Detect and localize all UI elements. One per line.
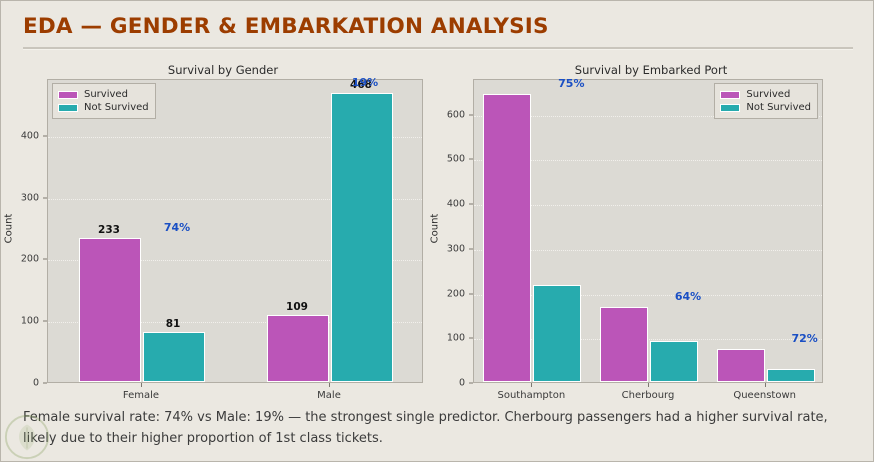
y-tick-mark	[469, 204, 473, 205]
bar-not-survived	[331, 93, 393, 382]
bar-value-label: 81	[166, 318, 181, 330]
y-tick-mark	[43, 321, 47, 322]
chart-legend: SurvivedNot Survived	[52, 83, 156, 119]
legend-swatch-survived	[720, 91, 740, 99]
legend-label: Survived	[84, 89, 128, 100]
x-tick-label: Queenstown	[733, 390, 796, 401]
x-tick-mark	[765, 383, 766, 387]
bar-survived	[717, 349, 765, 382]
percentage-annotation: 64%	[675, 290, 701, 303]
legend-item: Survived	[720, 88, 811, 101]
x-tick-mark	[531, 383, 532, 387]
y-tick-label: 0	[0, 378, 39, 389]
percentage-annotation: 19%	[352, 76, 378, 89]
chart-title: Survival by Embarked Port	[441, 63, 861, 77]
slide-canvas: EDA — GENDER & EMBARKATION ANALYSIS Surv…	[0, 0, 874, 462]
x-tick-mark	[648, 383, 649, 387]
percentage-annotation: 74%	[164, 221, 190, 234]
bar-survived	[600, 307, 648, 382]
bar-value-label: 233	[98, 224, 120, 236]
y-tick-mark	[469, 114, 473, 115]
y-tick-label: 500	[425, 154, 465, 165]
legend-swatch-not-survived	[720, 104, 740, 112]
y-tick-label: 0	[425, 378, 465, 389]
chart-survival-by-gender: Survival by Gender0100200300400Count2338…	[17, 63, 429, 395]
bar-survived	[483, 94, 531, 382]
x-tick-label: Cherbourg	[622, 390, 675, 401]
y-tick-mark	[43, 383, 47, 384]
x-tick-label: Male	[317, 390, 341, 401]
legend-label: Survived	[746, 89, 790, 100]
legend-label: Not Survived	[746, 102, 811, 113]
bar-not-survived	[533, 285, 581, 382]
legend-item: Not Survived	[720, 101, 811, 114]
title-divider	[23, 47, 853, 50]
legend-swatch-not-survived	[58, 104, 78, 112]
caption: Female survival rate: 74% vs Male: 19% —…	[23, 407, 859, 449]
bar-survived	[267, 315, 329, 382]
chart-legend: SurvivedNot Survived	[714, 83, 818, 119]
y-tick-label: 200	[425, 288, 465, 299]
chart-survival-by-embarked-port: Survival by Embarked Port010020030040050…	[441, 63, 861, 395]
caption-line-1: Female survival rate: 74% vs Male: 19% —…	[23, 407, 859, 428]
bar-not-survived	[650, 341, 698, 382]
y-axis-label: Count	[4, 199, 15, 259]
y-tick-mark	[469, 159, 473, 160]
bar-not-survived	[143, 332, 205, 382]
y-tick-label: 600	[425, 109, 465, 120]
y-tick-mark	[469, 338, 473, 339]
legend-swatch-survived	[58, 91, 78, 99]
y-axis-label: Count	[430, 199, 441, 259]
y-tick-mark	[469, 383, 473, 384]
y-tick-mark	[469, 248, 473, 249]
percentage-annotation: 75%	[558, 77, 584, 90]
legend-item: Not Survived	[58, 101, 149, 114]
legend-label: Not Survived	[84, 102, 149, 113]
y-tick-label: 100	[425, 333, 465, 344]
x-tick-mark	[141, 383, 142, 387]
page-title: EDA — GENDER & EMBARKATION ANALYSIS	[23, 14, 549, 39]
y-tick-mark	[43, 259, 47, 260]
y-tick-label: 100	[0, 316, 39, 327]
y-tick-mark	[469, 293, 473, 294]
caption-line-2: likely due to their higher proportion of…	[23, 428, 859, 449]
percentage-annotation: 72%	[791, 332, 817, 345]
plot-area	[473, 79, 823, 383]
bar-value-label: 109	[286, 301, 308, 313]
x-tick-label: Southampton	[498, 390, 566, 401]
y-tick-mark	[43, 197, 47, 198]
y-tick-label: 400	[0, 130, 39, 141]
x-tick-mark	[329, 383, 330, 387]
bar-not-survived	[767, 369, 815, 382]
x-tick-label: Female	[123, 390, 159, 401]
bar-survived	[79, 238, 141, 382]
y-tick-mark	[43, 135, 47, 136]
legend-item: Survived	[58, 88, 149, 101]
